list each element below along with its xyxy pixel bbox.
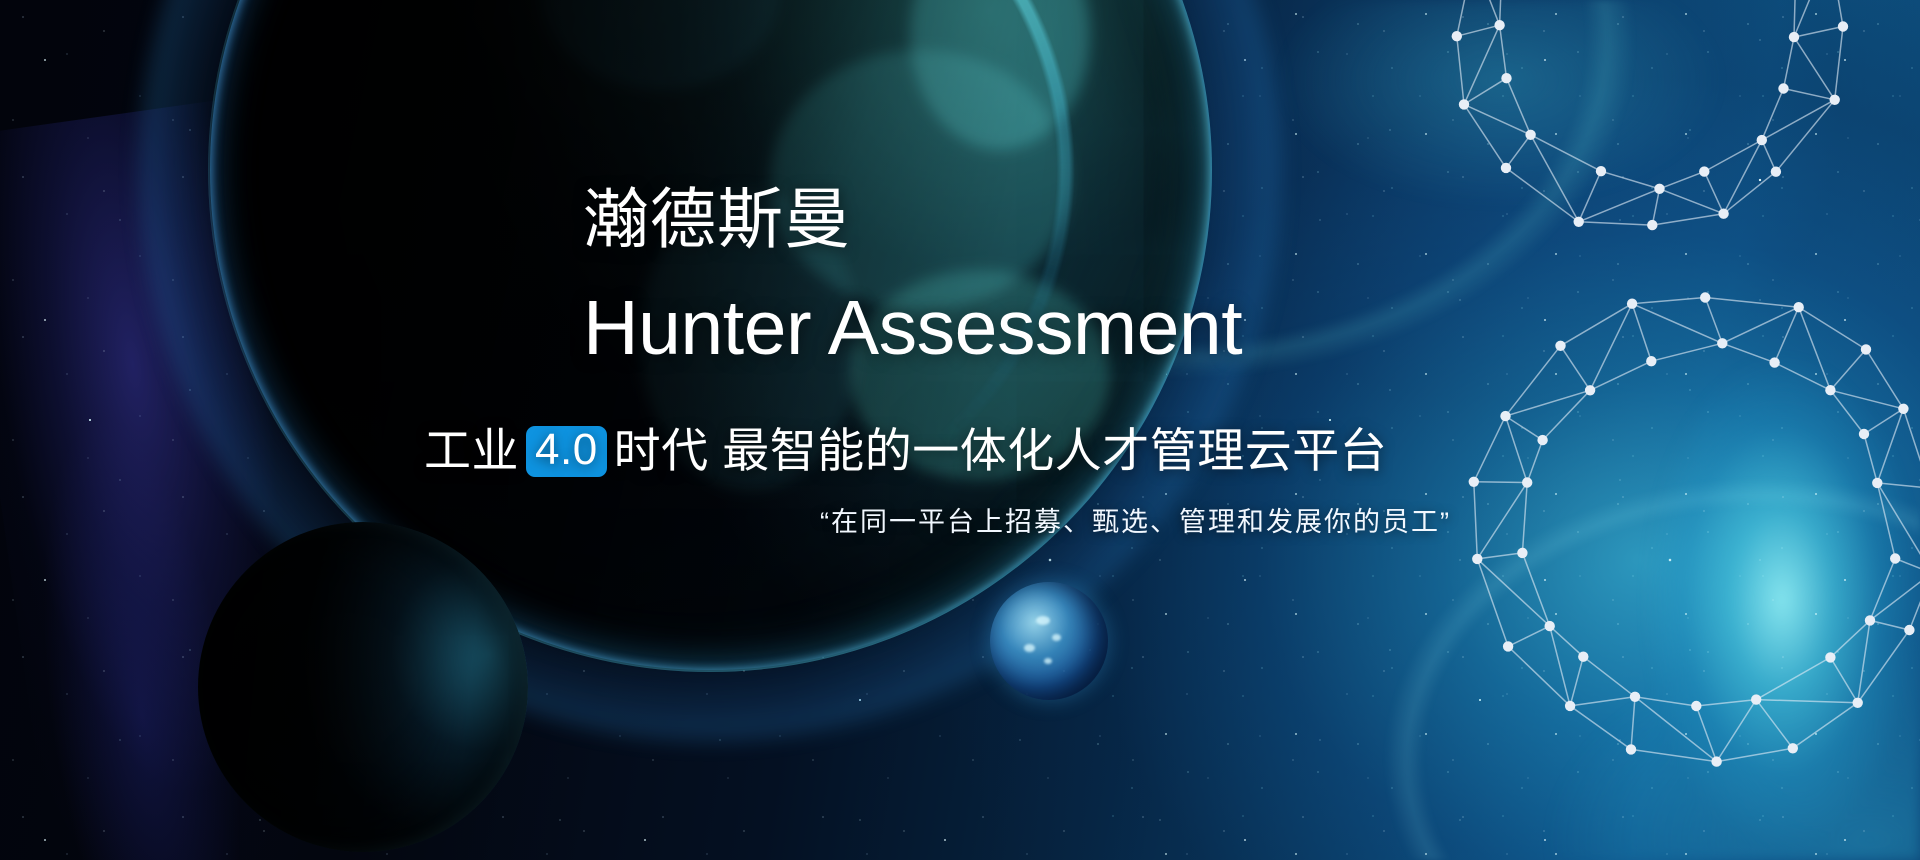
brand-name-chinese: 瀚德斯曼 [583,186,851,252]
tagline-suffix: 时代 最智能的一体化人才管理云平台 [614,424,1388,478]
hero-text-block: 瀚德斯曼 Hunter Assessment 工业 4.0 时代 最智能的一体化… [0,0,1920,860]
tagline: 工业 4.0 时代 最智能的一体化人才管理云平台 [424,424,1387,478]
tagline-prefix: 工业 [424,424,519,478]
hero-banner: 瀚德斯曼 Hunter Assessment 工业 4.0 时代 最智能的一体化… [0,0,1920,860]
industry-version-badge: 4.0 [526,426,607,477]
brand-name-english: Hunter Assessment [583,290,1242,367]
hero-quote: “在同一平台上招募、甄选、管理和发展你的员工” [820,506,1451,538]
